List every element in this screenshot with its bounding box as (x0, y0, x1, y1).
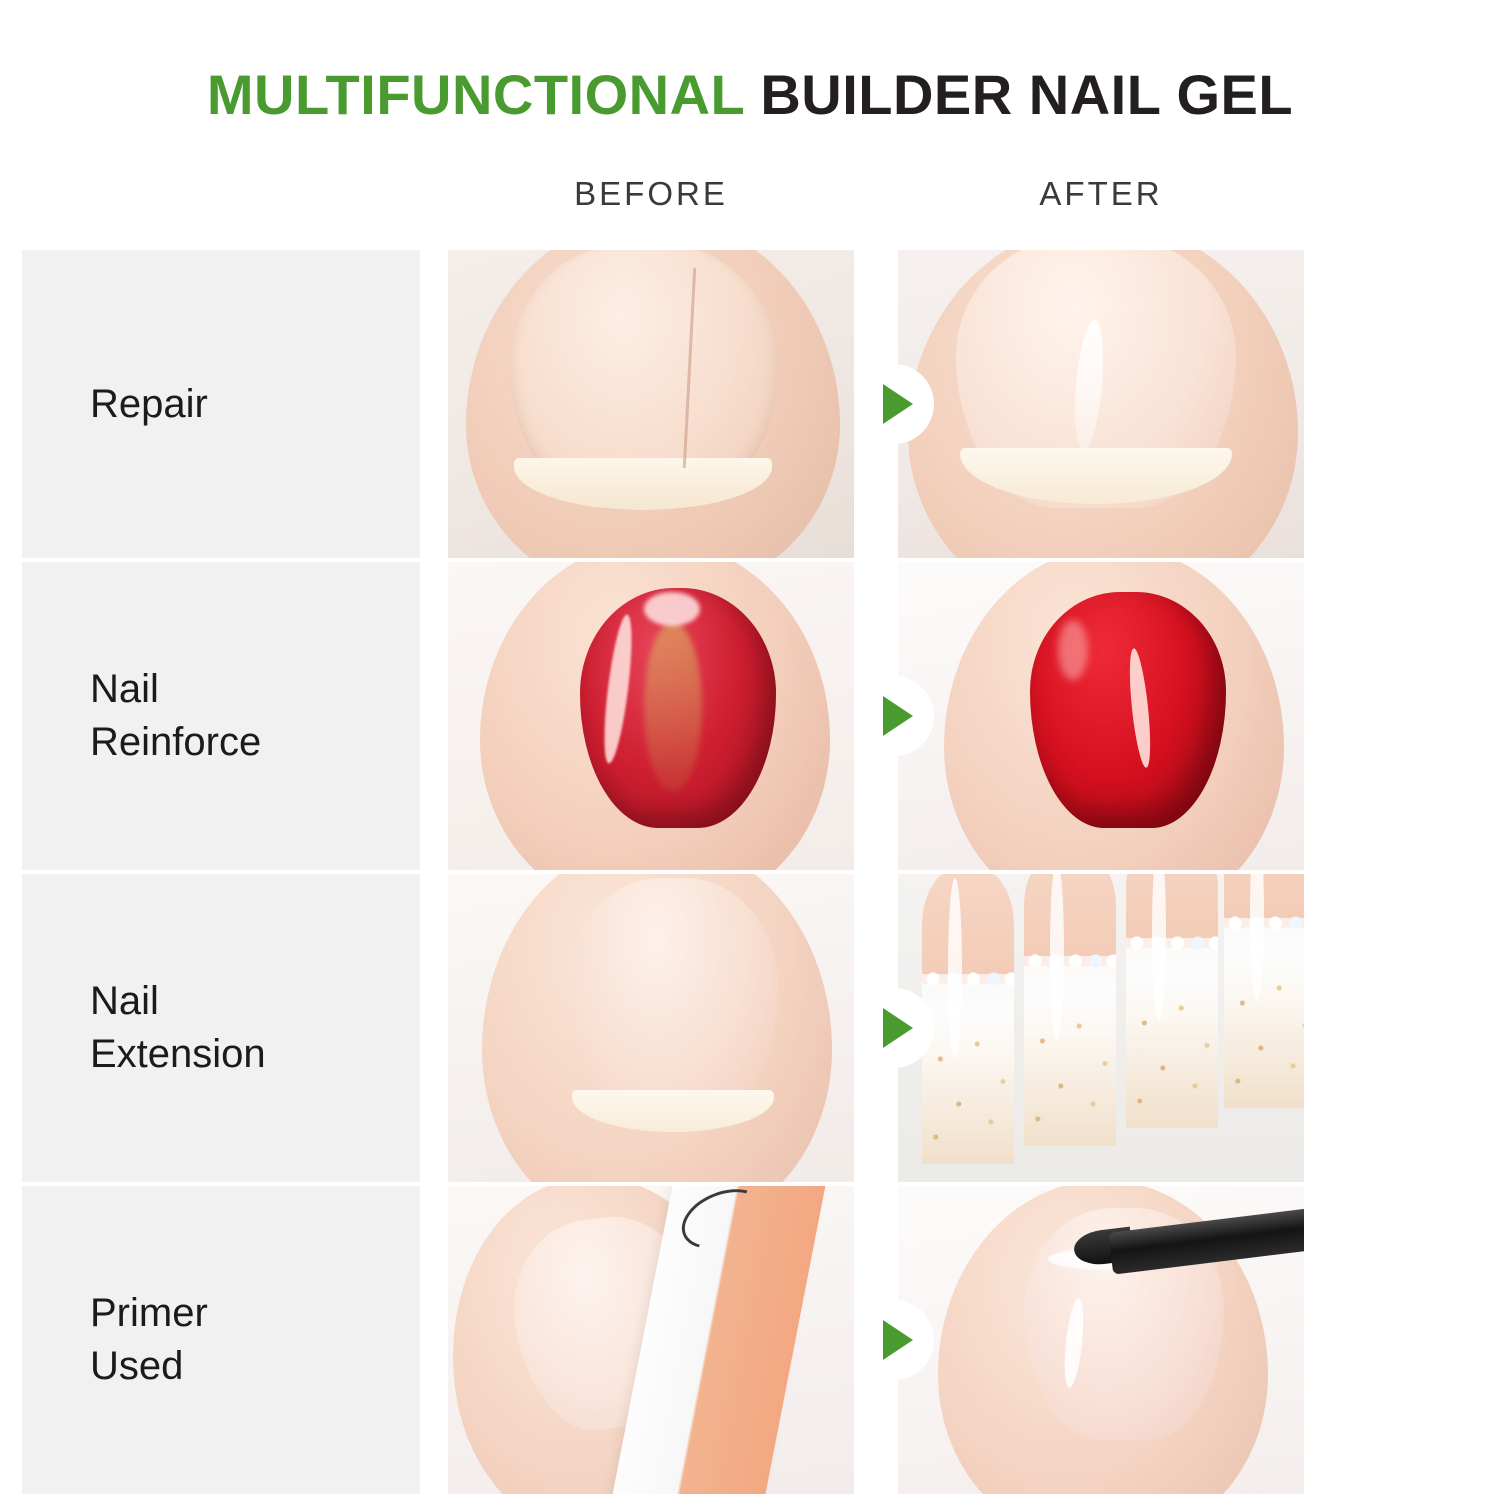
row-label-cell: Repair (22, 250, 420, 558)
nail-illustration (898, 1186, 1304, 1494)
before-photo (448, 562, 854, 870)
before-photo (448, 1186, 854, 1494)
comparison-row: Nail Reinforce (22, 562, 1478, 870)
comparison-row: Repair (22, 250, 1478, 558)
arrow-badge (854, 364, 934, 444)
arrow-badge (854, 1300, 934, 1380)
title-rest: BUILDER NAIL GEL (760, 63, 1293, 126)
title-highlight: MULTIFUNCTIONAL (207, 63, 744, 126)
after-photo (898, 562, 1304, 870)
page-title: MULTIFUNCTIONAL BUILDER NAIL GEL (0, 62, 1500, 127)
comparison-row: Primer Used (22, 1186, 1478, 1494)
nail-illustration (898, 250, 1304, 558)
after-photo (898, 874, 1304, 1182)
nail-illustration (448, 562, 854, 870)
row-label-cell: Nail Reinforce (22, 562, 420, 870)
product-infographic: MULTIFUNCTIONAL BUILDER NAIL GEL BEFORE … (0, 0, 1500, 1500)
nail-illustration (898, 562, 1304, 870)
before-photo (448, 874, 854, 1182)
play-triangle-icon (883, 1320, 913, 1360)
after-photo (898, 250, 1304, 558)
play-triangle-icon (883, 1008, 913, 1048)
play-triangle-icon (883, 384, 913, 424)
nail-illustration (448, 1186, 854, 1494)
column-header-before: BEFORE (448, 175, 854, 213)
nail-illustration (448, 250, 854, 558)
row-label: Nail Reinforce (90, 663, 261, 769)
row-label: Repair (90, 378, 208, 431)
row-label: Nail Extension (90, 975, 266, 1081)
before-photo (448, 250, 854, 558)
after-photo (898, 1186, 1304, 1494)
nail-illustration (898, 874, 1304, 1182)
comparison-row: Nail Extension (22, 874, 1478, 1182)
play-triangle-icon (883, 696, 913, 736)
arrow-badge (854, 988, 934, 1068)
row-label-cell: Nail Extension (22, 874, 420, 1182)
arrow-badge (854, 676, 934, 756)
nail-illustration (448, 874, 854, 1182)
column-header-after: AFTER (898, 175, 1304, 213)
row-label-cell: Primer Used (22, 1186, 420, 1494)
row-label: Primer Used (90, 1287, 208, 1393)
